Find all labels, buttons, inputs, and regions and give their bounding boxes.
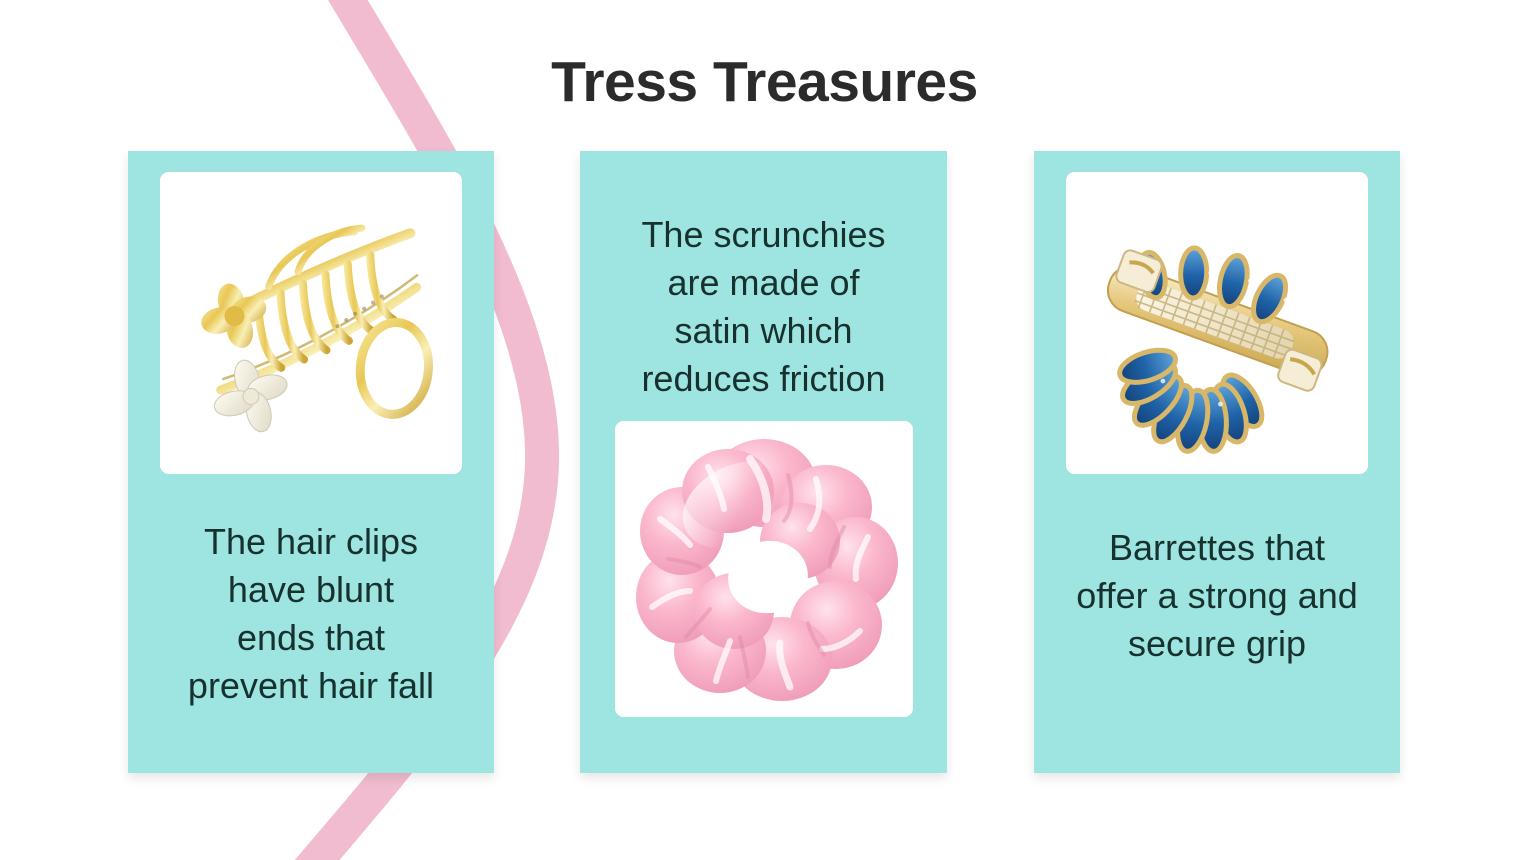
gold-hair-clip-photo <box>160 172 462 474</box>
feature-card-scrunchies[interactable]: The scrunchies are made of satin which r… <box>580 151 947 773</box>
slide-canvas: Tress Treasures <box>0 0 1529 860</box>
blue-gem-barrette-photo <box>1066 172 1368 474</box>
page-title: Tress Treasures <box>0 52 1529 114</box>
feature-card-barrettes[interactable]: Barrettes that offer a strong and secure… <box>1034 151 1400 773</box>
card-2-caption: The scrunchies are made of satin which r… <box>586 211 942 403</box>
pink-satin-scrunchie-photo <box>615 421 913 717</box>
card-1-caption: The hair clips have blunt ends that prev… <box>138 518 484 710</box>
card-3-caption: Barrettes that offer a strong and secure… <box>1034 524 1400 668</box>
feature-card-hair-clips[interactable]: The hair clips have blunt ends that prev… <box>128 151 494 773</box>
